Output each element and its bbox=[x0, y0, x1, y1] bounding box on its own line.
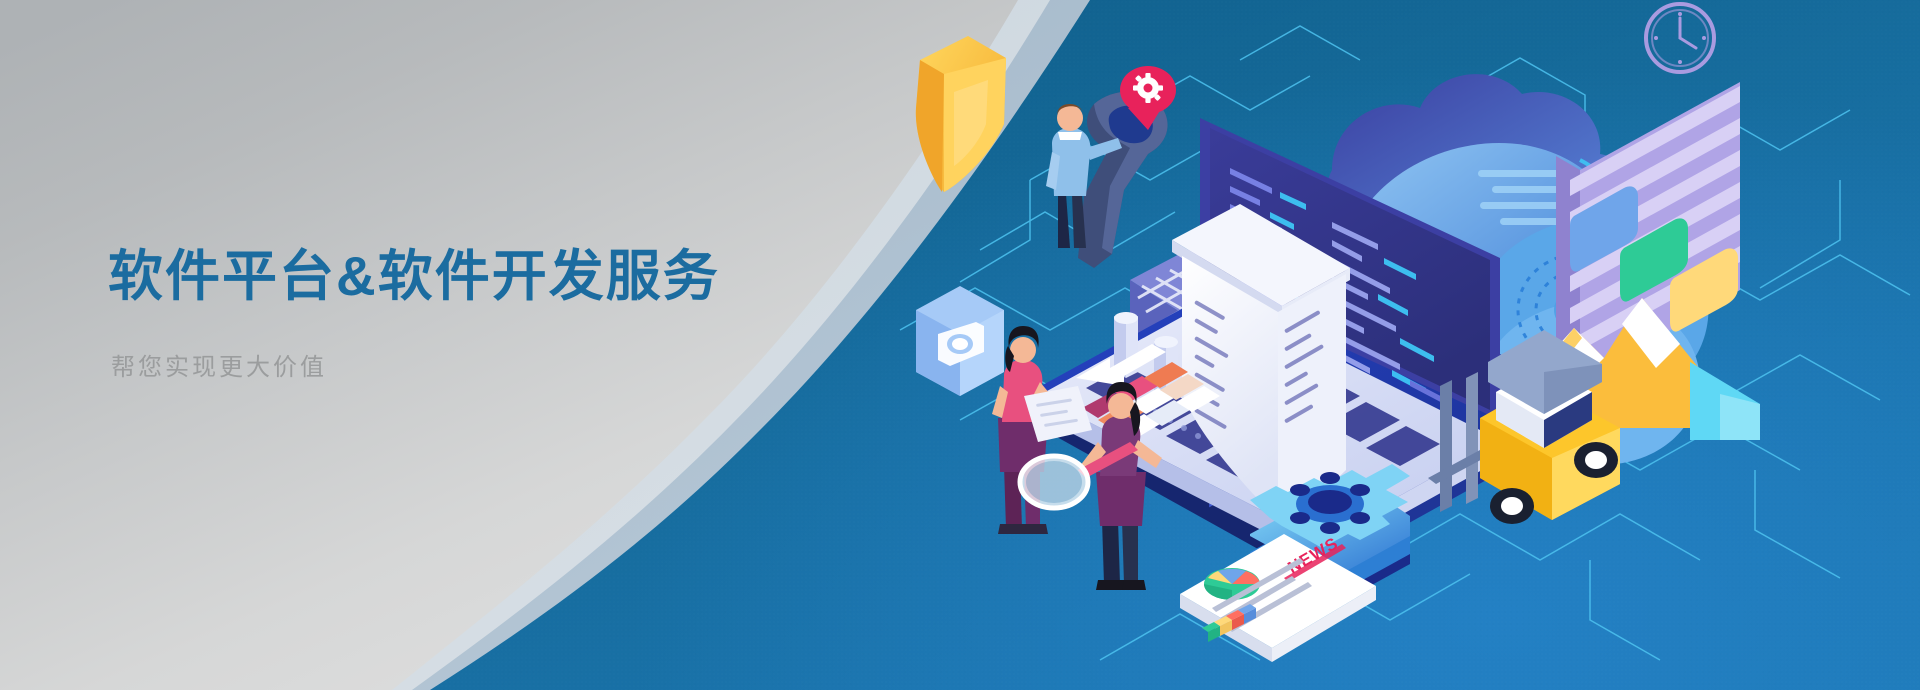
page-subtitle: 帮您实现更大价值 bbox=[111, 352, 868, 383]
shield-icon bbox=[916, 36, 1006, 192]
copy-block: 软件平台&软件开发服务 帮您实现更大价值 bbox=[108, 246, 868, 383]
pie-chart-icon bbox=[1204, 568, 1260, 600]
clock-icon bbox=[1646, 4, 1714, 72]
hero-banner: NEWS bbox=[0, 0, 1920, 690]
page-title: 软件平台&软件开发服务 bbox=[108, 246, 868, 308]
hero-illustration: NEWS bbox=[880, 0, 1920, 690]
camera-tile-icon bbox=[916, 286, 1004, 396]
